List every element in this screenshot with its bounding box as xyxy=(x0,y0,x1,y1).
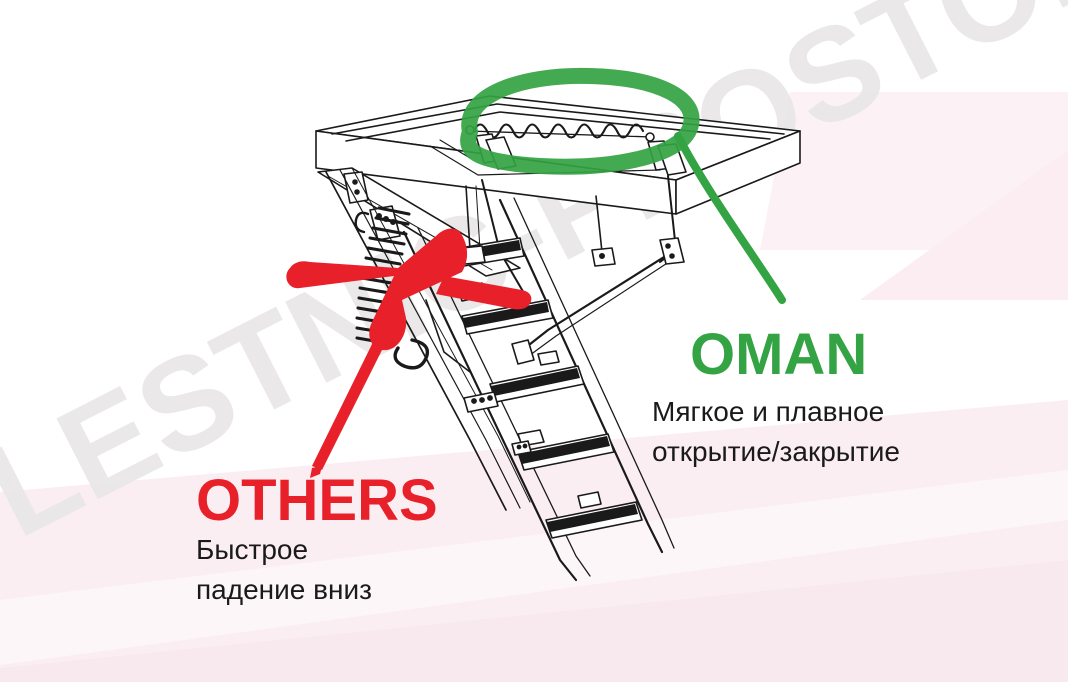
infographic-canvas: LESTNIC-PROSTO.RU xyxy=(0,0,1068,682)
red-annotation-layer xyxy=(0,0,1068,682)
red-arrow-right-stroke xyxy=(436,276,531,309)
others-description: Быстрое падение вниз xyxy=(196,530,372,610)
oman-description: Мягкое и плавное открытие/закрытие xyxy=(652,392,900,472)
others-heading: OTHERS xyxy=(196,472,438,530)
red-arrow-tail xyxy=(312,336,386,470)
oman-heading: OMAN xyxy=(690,326,867,384)
